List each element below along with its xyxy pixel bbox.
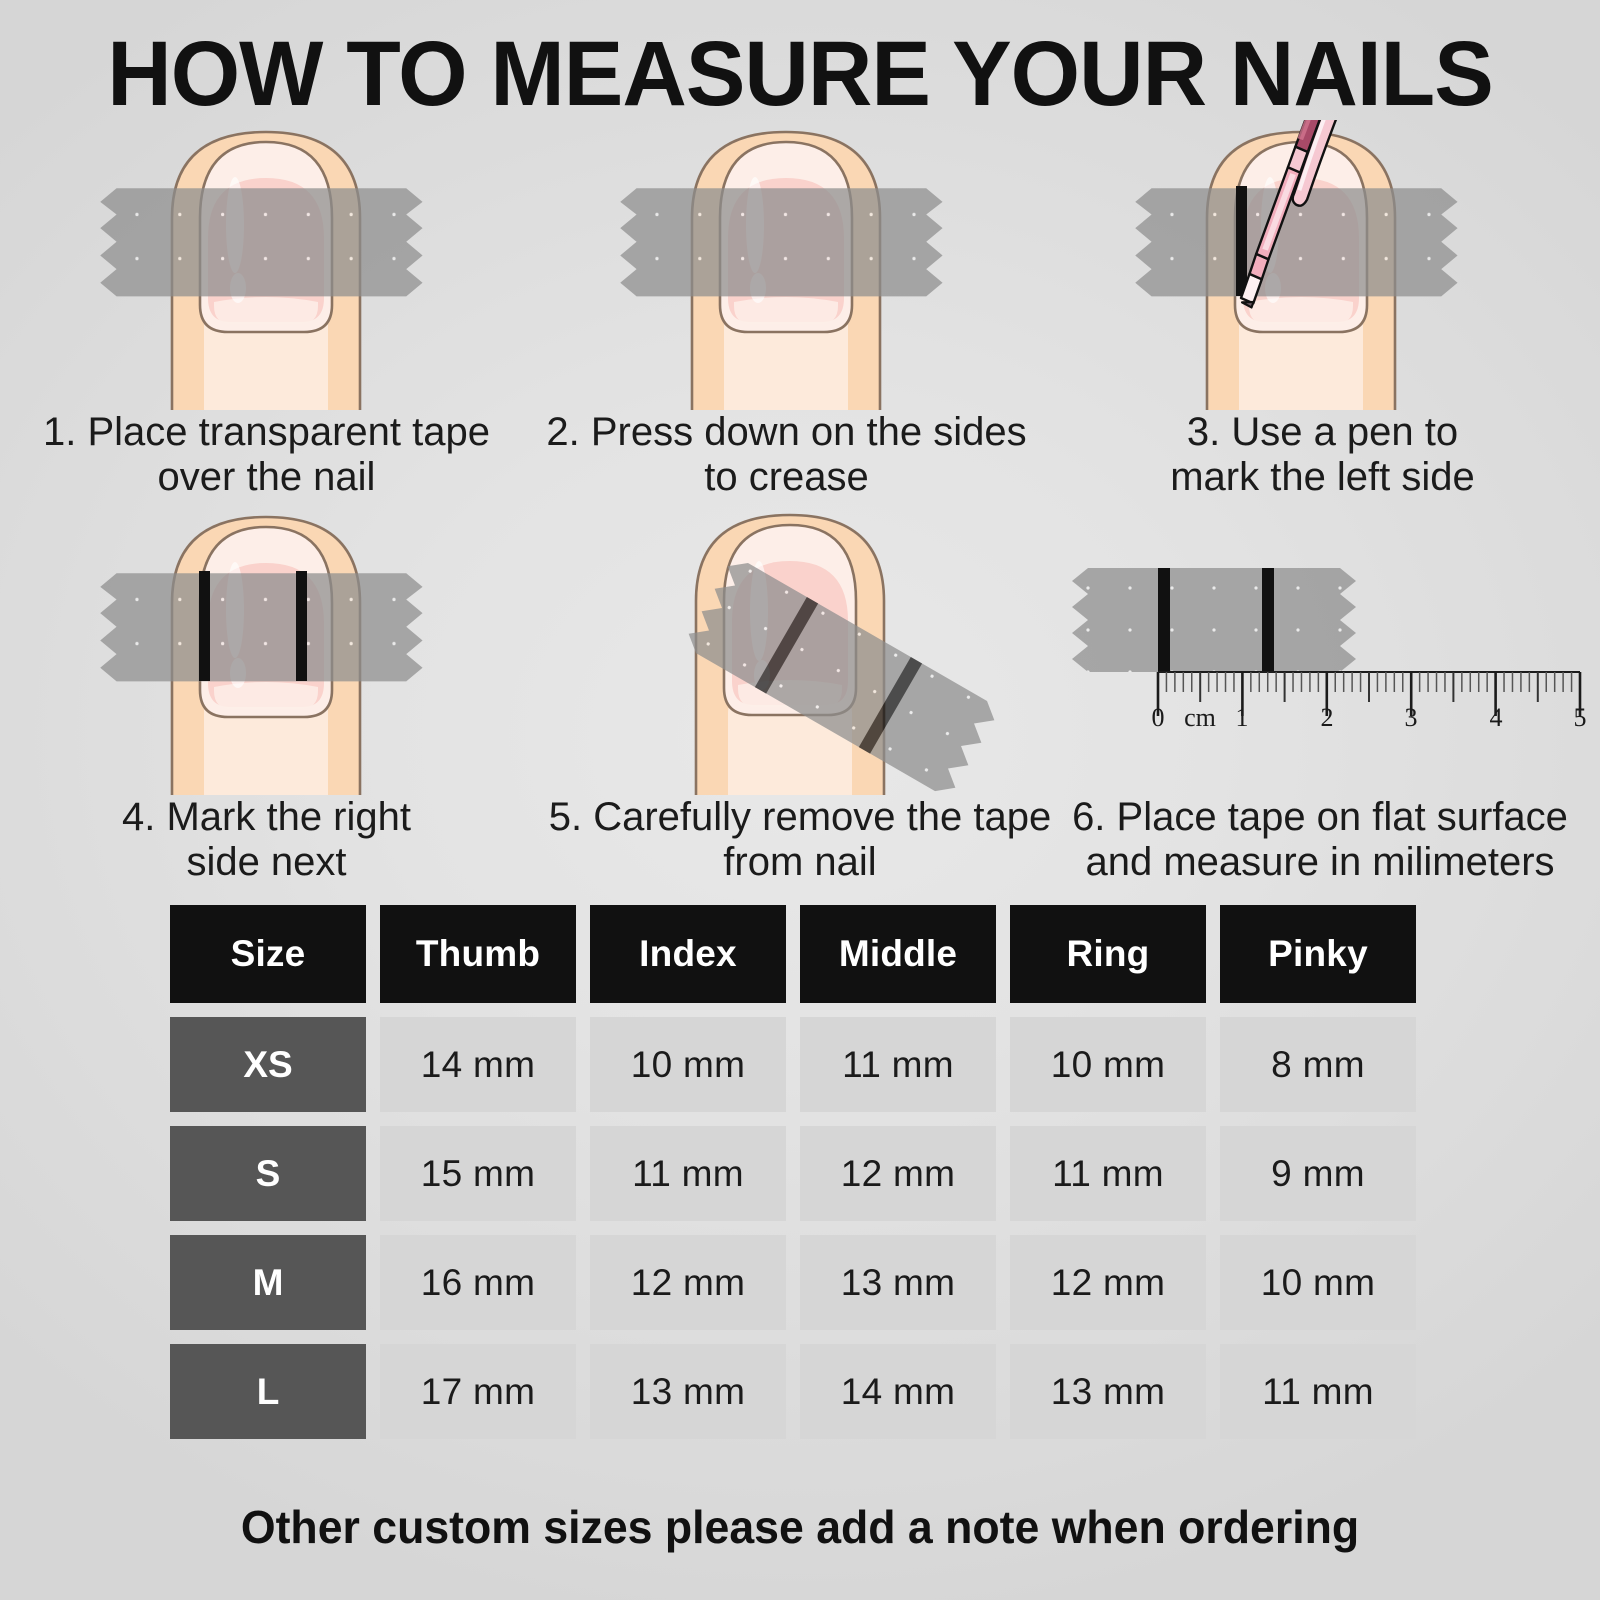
table-cell-pinky: 8 mm bbox=[1220, 1017, 1416, 1112]
nail-with-pen-illustration bbox=[1045, 120, 1600, 410]
table-header-thumb: Thumb bbox=[380, 905, 576, 1003]
footer-note: Other custom sizes please add a note whe… bbox=[24, 1500, 1576, 1554]
step-2: 2. Press down on the sides to crease bbox=[520, 120, 1053, 510]
ruler-tick-1: 1 bbox=[1236, 703, 1249, 732]
step-3-caption: 3. Use a pen to mark the left side bbox=[1045, 410, 1600, 500]
step-2-caption: 2. Press down on the sides to crease bbox=[520, 410, 1053, 500]
pen-mark-left bbox=[1236, 186, 1247, 296]
table-cell-index: 13 mm bbox=[590, 1344, 786, 1439]
table-cell-ring: 11 mm bbox=[1010, 1126, 1206, 1221]
tape-strip bbox=[620, 188, 942, 296]
table-cell-thumb: 15 mm bbox=[380, 1126, 576, 1221]
step-1: 1. Place transparent tape over the nail bbox=[0, 120, 533, 510]
pen-mark-left bbox=[199, 571, 210, 681]
ruler-tick-0: 0 bbox=[1152, 703, 1165, 732]
table-header-index: Index bbox=[590, 905, 786, 1003]
caption-line-2: to crease bbox=[520, 455, 1053, 500]
table-cell-ring: 12 mm bbox=[1010, 1235, 1206, 1330]
table-cell-thumb: 14 mm bbox=[380, 1017, 576, 1112]
step-4: 4. Mark the right side next bbox=[0, 505, 533, 895]
ruler-tick-3: 3 bbox=[1405, 703, 1418, 732]
table-cell-ring: 13 mm bbox=[1010, 1344, 1206, 1439]
caption-line-1: 5. Carefully remove the tape bbox=[520, 795, 1080, 840]
step-6-caption: 6. Place tape on flat surface and measur… bbox=[1040, 795, 1600, 885]
ruler-tick-2: 2 bbox=[1321, 703, 1334, 732]
step-5: 5. Carefully remove the tape from nail bbox=[520, 495, 1080, 895]
table-header-ring: Ring bbox=[1010, 905, 1206, 1003]
table-row: XS 14 mm 10 mm 11 mm 10 mm 8 mm bbox=[170, 1017, 1435, 1112]
tape-strip bbox=[100, 573, 422, 681]
table-header-row: Size Thumb Index Middle Ring Pinky bbox=[170, 905, 1435, 1003]
infographic-page: HOW TO MEASURE YOUR NAILS bbox=[0, 0, 1600, 1600]
table-cell-size: L bbox=[170, 1344, 366, 1439]
ruler-tick-4: 4 bbox=[1490, 703, 1503, 732]
ruler: 0 cm 1 2 3 4 5 bbox=[1152, 672, 1587, 732]
pen-mark-left bbox=[1158, 568, 1170, 672]
table-cell-thumb: 16 mm bbox=[380, 1235, 576, 1330]
table-cell-index: 11 mm bbox=[590, 1126, 786, 1221]
nail-with-tape-creased-illustration bbox=[520, 120, 1053, 410]
ruler-unit-label: cm bbox=[1184, 703, 1216, 732]
table-row: S 15 mm 11 mm 12 mm 11 mm 9 mm bbox=[170, 1126, 1435, 1221]
step-6: 0 cm 1 2 3 4 5 6. Place tape on flat sur… bbox=[1040, 540, 1600, 900]
ruler-labels: 0 cm 1 2 3 4 5 bbox=[1152, 703, 1587, 732]
table-cell-middle: 12 mm bbox=[800, 1126, 996, 1221]
nail-with-two-marks-illustration bbox=[0, 505, 533, 795]
caption-line-2: and measure in milimeters bbox=[1040, 840, 1600, 885]
table-cell-pinky: 10 mm bbox=[1220, 1235, 1416, 1330]
table-cell-index: 10 mm bbox=[590, 1017, 786, 1112]
table-cell-size: M bbox=[170, 1235, 366, 1330]
table-cell-middle: 11 mm bbox=[800, 1017, 996, 1112]
caption-line-1: 4. Mark the right bbox=[0, 795, 533, 840]
step-1-caption: 1. Place transparent tape over the nail bbox=[0, 410, 533, 500]
size-chart-table: Size Thumb Index Middle Ring Pinky XS 14… bbox=[170, 905, 1435, 1453]
caption-line-1: 3. Use a pen to bbox=[1045, 410, 1600, 455]
tape-strip bbox=[1072, 568, 1356, 672]
table-row: L 17 mm 13 mm 14 mm 13 mm 11 mm bbox=[170, 1344, 1435, 1439]
caption-line-2: from nail bbox=[520, 840, 1080, 885]
nail-tape-peeling-illustration bbox=[520, 495, 1080, 795]
caption-line-1: 1. Place transparent tape bbox=[0, 410, 533, 455]
table-cell-ring: 10 mm bbox=[1010, 1017, 1206, 1112]
caption-line-2: mark the left side bbox=[1045, 455, 1600, 500]
caption-line-2: side next bbox=[0, 840, 533, 885]
step-3: 3. Use a pen to mark the left side bbox=[1045, 120, 1600, 510]
table-cell-size: S bbox=[170, 1126, 366, 1221]
caption-line-1: 6. Place tape on flat surface bbox=[1040, 795, 1600, 840]
pen-mark-right bbox=[1262, 568, 1274, 672]
table-cell-pinky: 9 mm bbox=[1220, 1126, 1416, 1221]
ruler-tick-5: 5 bbox=[1574, 703, 1587, 732]
table-cell-middle: 14 mm bbox=[800, 1344, 996, 1439]
table-cell-index: 12 mm bbox=[590, 1235, 786, 1330]
table-cell-thumb: 17 mm bbox=[380, 1344, 576, 1439]
table-header-pinky: Pinky bbox=[1220, 905, 1416, 1003]
caption-line-1: 2. Press down on the sides bbox=[520, 410, 1053, 455]
table-header-size: Size bbox=[170, 905, 366, 1003]
table-row: M 16 mm 12 mm 13 mm 12 mm 10 mm bbox=[170, 1235, 1435, 1330]
page-title: HOW TO MEASURE YOUR NAILS bbox=[24, 26, 1576, 123]
table-cell-pinky: 11 mm bbox=[1220, 1344, 1416, 1439]
pen-mark-right bbox=[296, 571, 307, 681]
table-header-middle: Middle bbox=[800, 905, 996, 1003]
tape-on-ruler-illustration: 0 cm 1 2 3 4 5 bbox=[1040, 540, 1600, 790]
step-4-caption: 4. Mark the right side next bbox=[0, 795, 533, 885]
tape-strip bbox=[100, 188, 422, 296]
table-cell-size: XS bbox=[170, 1017, 366, 1112]
nail-with-tape-illustration bbox=[0, 120, 533, 410]
step-5-caption: 5. Carefully remove the tape from nail bbox=[520, 795, 1080, 885]
table-cell-middle: 13 mm bbox=[800, 1235, 996, 1330]
caption-line-2: over the nail bbox=[0, 455, 533, 500]
